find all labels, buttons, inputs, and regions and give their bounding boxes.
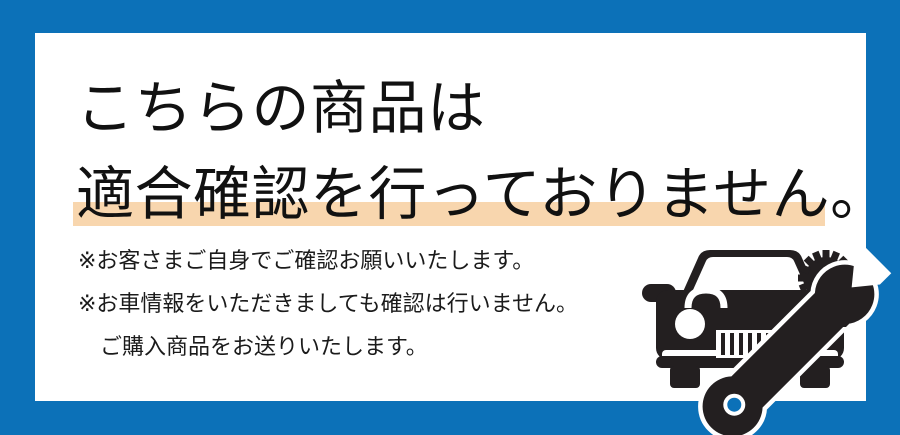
note-line-1: ※お客さまご自身でご確認お願いいたします。: [78, 251, 534, 273]
notice-banner: こちらの商品は 適合確認を行っておりません。 ※お客さまご自身でご確認お願いいた…: [0, 0, 900, 435]
note-line-2: ※お車情報をいただきましても確認は行いません。: [78, 294, 578, 316]
note-line-3: ご購入商品をお送りいたします。: [100, 337, 428, 359]
car-service-illustration: [636, 238, 900, 435]
